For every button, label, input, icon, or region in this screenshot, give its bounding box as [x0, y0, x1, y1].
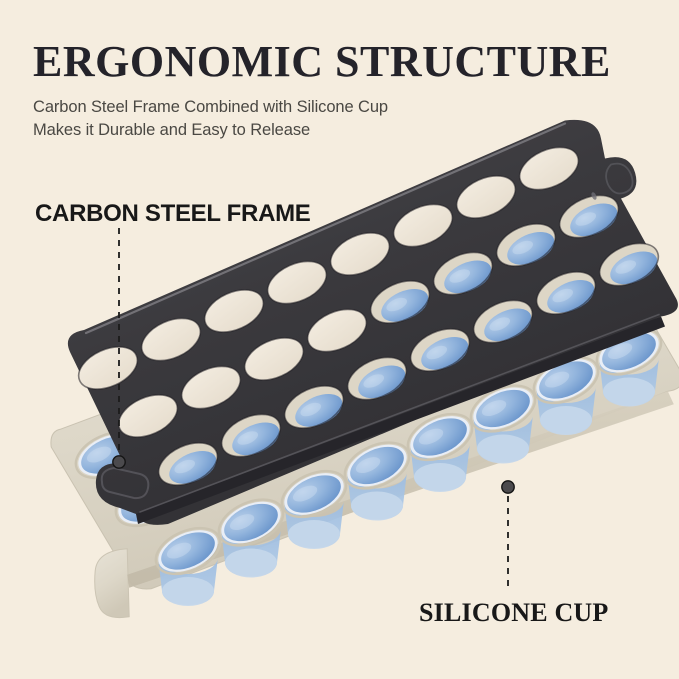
leader-dot-carbon-steel-frame	[113, 456, 125, 468]
infographic-page: ERGONOMIC STRUCTURE Carbon Steel Frame C…	[0, 0, 679, 679]
leader-dot-silicone-cup	[502, 481, 514, 493]
callout-label-carbon-steel-frame: CARBON STEEL FRAME	[35, 200, 311, 228]
page-title: ERGONOMIC STRUCTURE	[33, 40, 611, 84]
callout-label-silicone-cup: SILICONE CUP	[419, 598, 609, 628]
page-subtitle: Carbon Steel Frame Combined with Silicon…	[33, 96, 388, 142]
